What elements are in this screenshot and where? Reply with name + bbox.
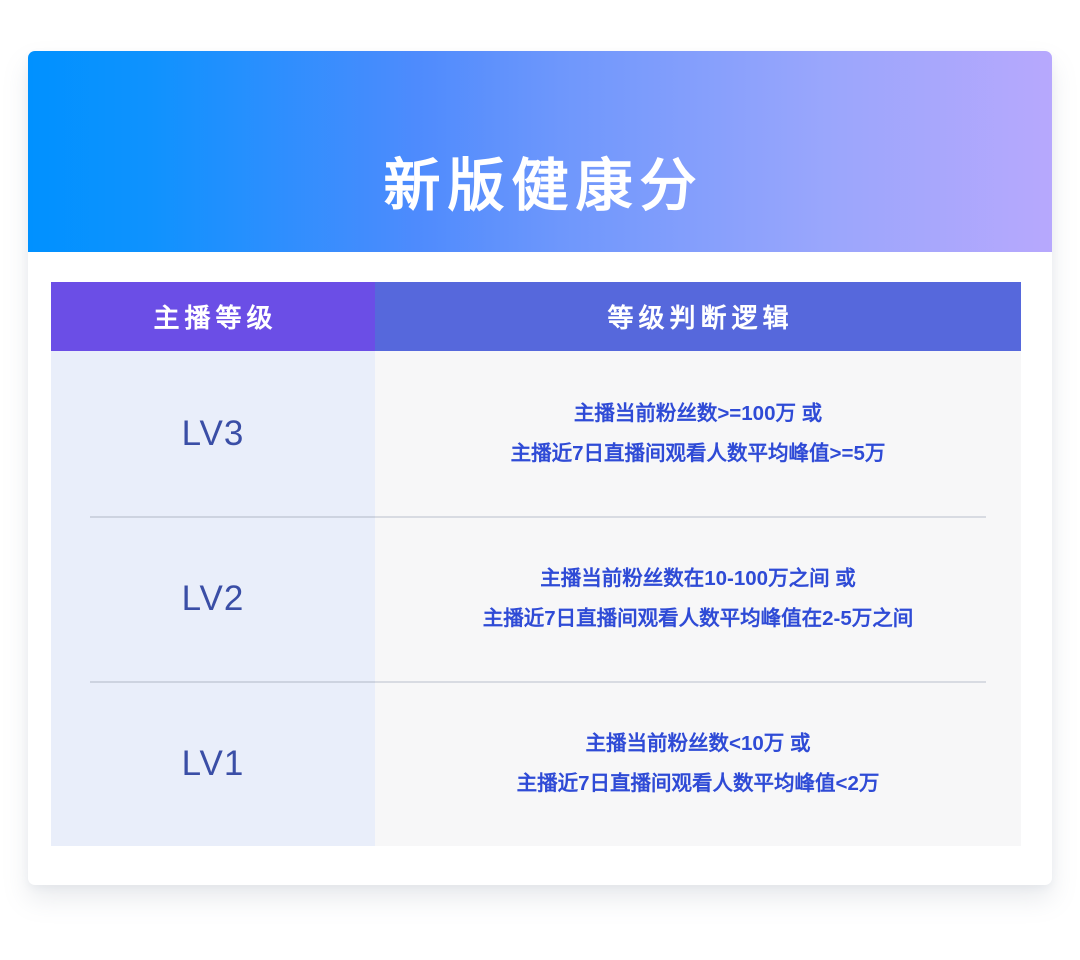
page-title: 新版健康分 bbox=[28, 158, 1052, 215]
logic-line-1: 主播当前粉丝数>=100万 或 bbox=[375, 394, 1021, 434]
level-label-lv1: LV1 bbox=[51, 681, 375, 846]
logic-cell-lv2: 主播当前粉丝数在10-100万之间 或 主播近7日直播间观看人数平均峰值在2-5… bbox=[375, 516, 1021, 681]
level-label-lv2: LV2 bbox=[51, 516, 375, 681]
table-header-row: 主播等级 等级判断逻辑 bbox=[51, 282, 1021, 351]
column-header-anchor-level: 主播等级 bbox=[51, 282, 375, 351]
logic-line-1: 主播当前粉丝数在10-100万之间 或 bbox=[375, 559, 1021, 599]
table-row: LV2 主播当前粉丝数在10-100万之间 或 主播近7日直播间观看人数平均峰值… bbox=[51, 516, 1021, 681]
table-row: LV1 主播当前粉丝数<10万 或 主播近7日直播间观看人数平均峰值<2万 bbox=[51, 681, 1021, 846]
logic-cell-lv1: 主播当前粉丝数<10万 或 主播近7日直播间观看人数平均峰值<2万 bbox=[375, 681, 1021, 846]
table-row: LV3 主播当前粉丝数>=100万 或 主播近7日直播间观看人数平均峰值>=5万 bbox=[51, 351, 1021, 516]
logic-line-1: 主播当前粉丝数<10万 或 bbox=[375, 724, 1021, 764]
logic-line-2: 主播近7日直播间观看人数平均峰值>=5万 bbox=[375, 434, 1021, 474]
health-score-card: 新版健康分 主播等级 等级判断逻辑 LV3 主播当前粉丝数>=100万 或 主播… bbox=[28, 51, 1052, 885]
card-banner: 新版健康分 bbox=[28, 51, 1052, 252]
level-label-lv3: LV3 bbox=[51, 351, 375, 516]
logic-line-2: 主播近7日直播间观看人数平均峰值<2万 bbox=[375, 764, 1021, 804]
logic-cell-lv3: 主播当前粉丝数>=100万 或 主播近7日直播间观看人数平均峰值>=5万 bbox=[375, 351, 1021, 516]
anchor-grade-table: 主播等级 等级判断逻辑 LV3 主播当前粉丝数>=100万 或 主播近7日直播间… bbox=[51, 282, 1021, 846]
column-header-level-logic: 等级判断逻辑 bbox=[375, 282, 1021, 351]
logic-line-2: 主播近7日直播间观看人数平均峰值在2-5万之间 bbox=[375, 599, 1021, 639]
